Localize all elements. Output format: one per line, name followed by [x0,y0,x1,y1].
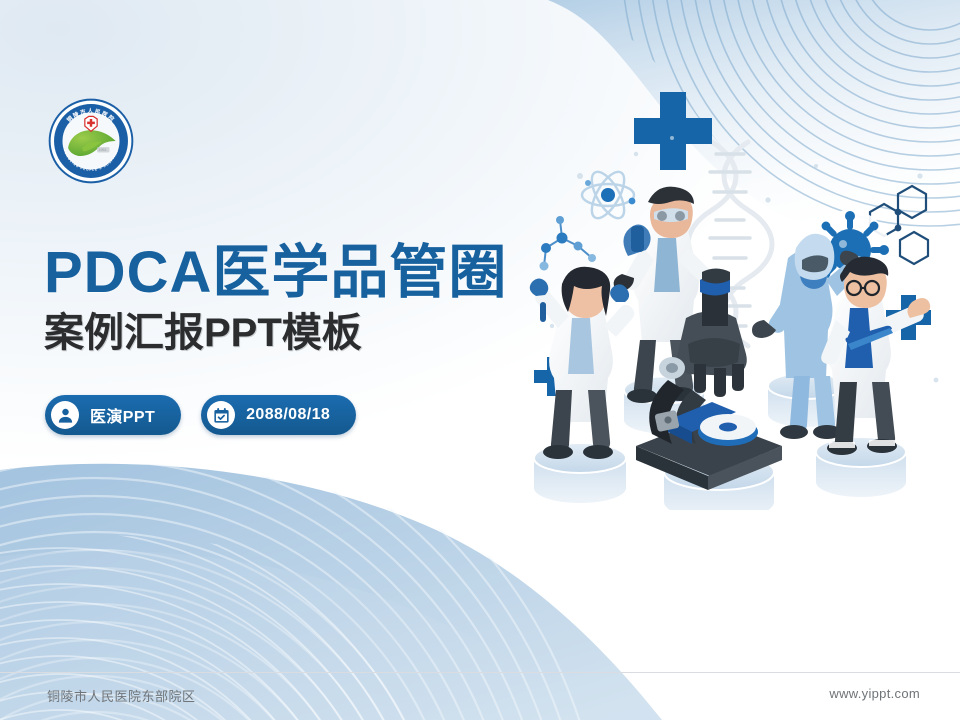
title-block: PDCA医学品管圈 案例汇报PPT模板 [44,243,564,354]
footer-hospital-name: 铜陵市人民医院东部院区 [47,686,196,705]
hospital-logo: 1951 铜陵市人民医院 TONGLING PEOPLE'S HOSPITAL [47,97,135,185]
presentation-title-slide: 1951 铜陵市人民医院 TONGLING PEOPLE'S HOSPITAL … [0,0,960,720]
calendar-icon [207,401,235,429]
date-pill[interactable]: 2088/08/18 [201,395,356,435]
date-label: 2088/08/18 [246,406,330,424]
footer-website: www.yippt.com [829,686,920,701]
page-subtitle: 案例汇报PPT模板 [44,312,564,354]
user-icon [51,401,79,429]
atom-icon [582,167,635,223]
logo-year: 1951 [98,148,106,152]
author-pill[interactable]: 医演PPT [45,395,181,435]
author-label: 医演PPT [90,403,155,427]
medical-research-team-illustration [516,80,960,510]
footer-divider [0,672,960,673]
meta-pill-row: 医演PPT 2088/08/18 [45,395,356,435]
molecule-icon-left [540,216,597,271]
figure-female-scientist [530,267,635,459]
page-title: PDCA医学品管圈 [44,243,564,302]
